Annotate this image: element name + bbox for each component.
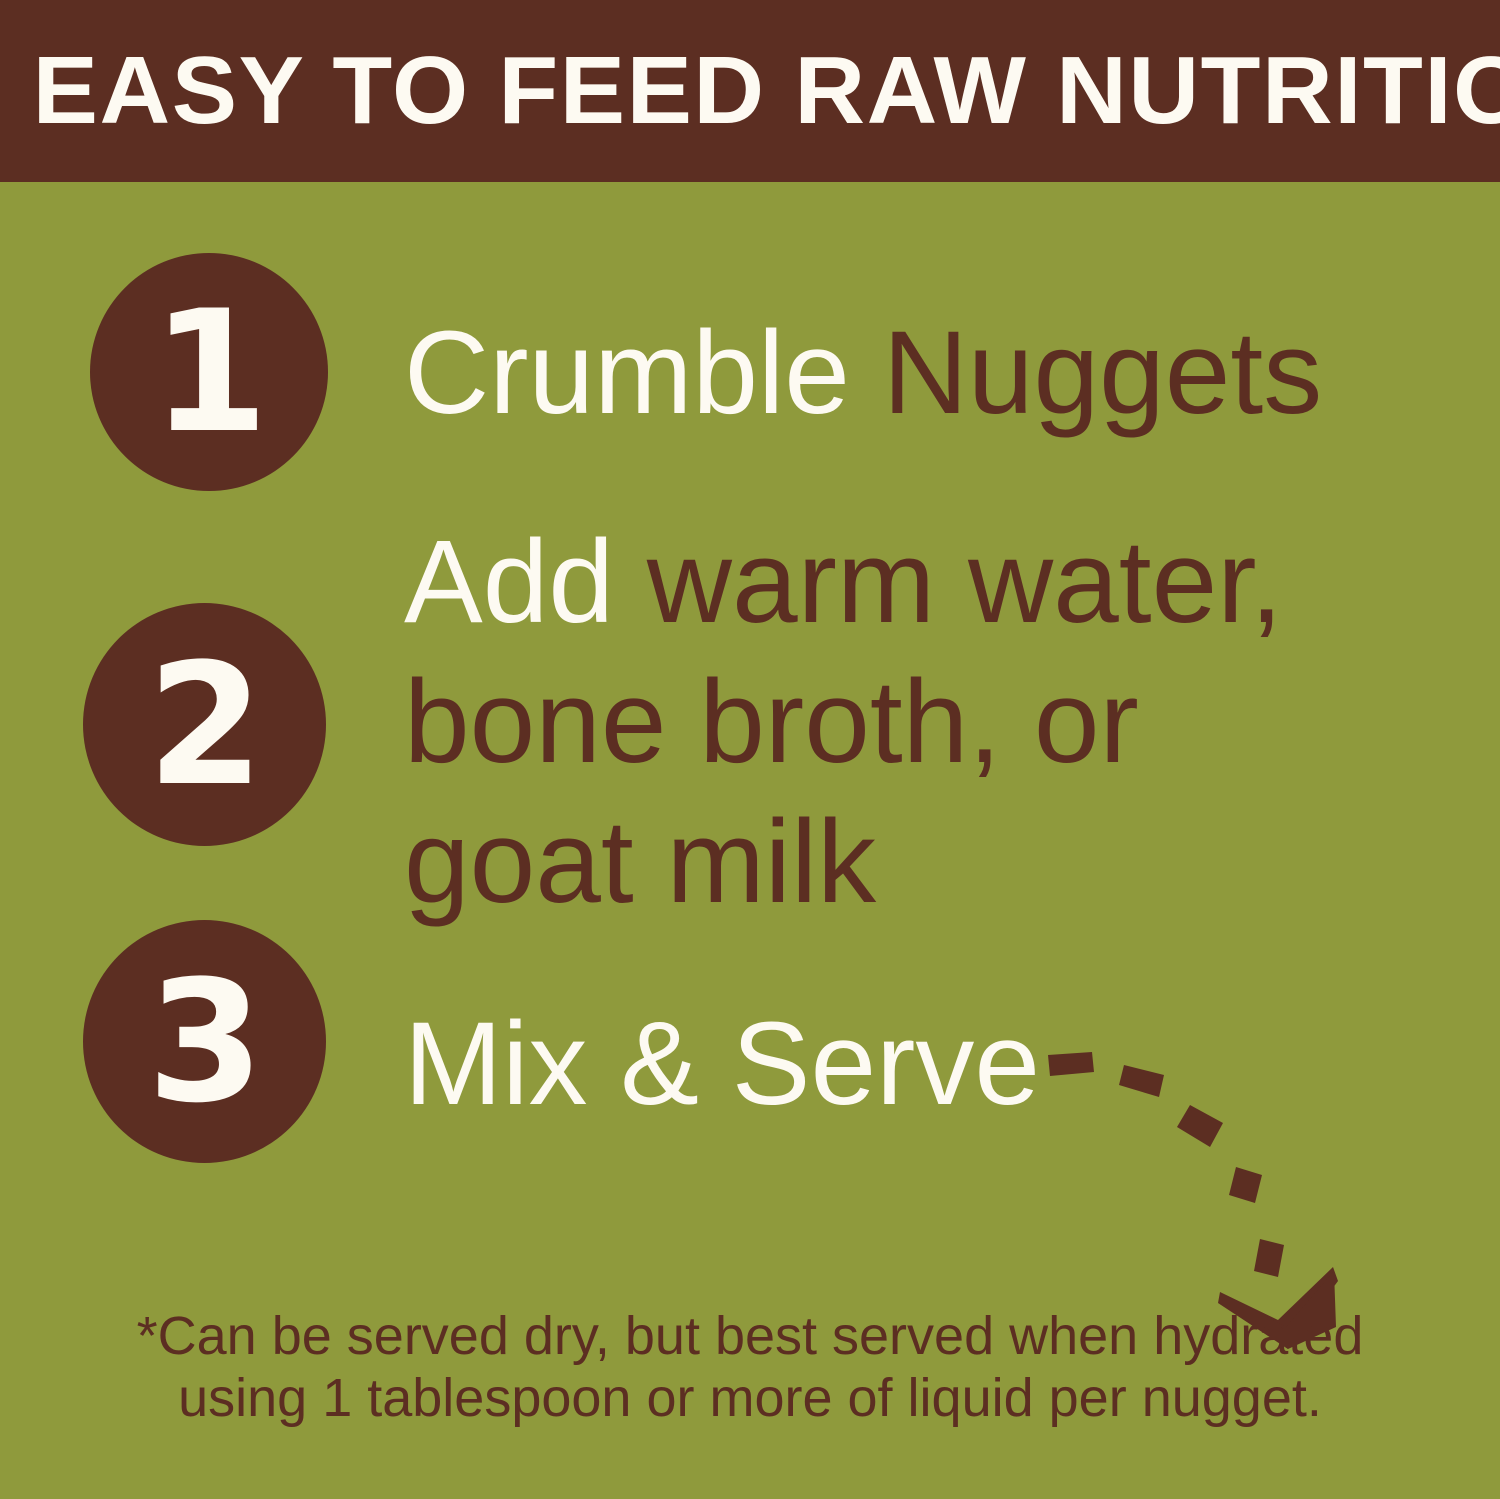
step-badge-1: 1	[90, 253, 328, 491]
step-text-1: Crumble Nuggets	[404, 303, 1322, 443]
step-badge-3: 3	[83, 920, 326, 1163]
step-2-line-3: goat milk	[404, 792, 1283, 932]
step-text-2: Add warm water, bone broth, or goat milk	[404, 512, 1283, 932]
step-text-3: Mix & Serve	[404, 994, 1040, 1134]
step-2-line-3-part-1: goat milk	[404, 796, 876, 928]
step-2-line-1: Add warm water,	[404, 512, 1283, 652]
step-1-line-1-part-2: Nuggets	[883, 307, 1323, 439]
footnote: *Can be served dry, but best served when…	[0, 1305, 1500, 1429]
footnote-line-2: using 1 tablespoon or more of liquid per…	[40, 1367, 1460, 1429]
step-2-line-2: bone broth, or	[404, 652, 1283, 792]
step-1-line-1-part-1: Crumble	[404, 307, 883, 439]
step-number-3: 3	[147, 958, 262, 1126]
step-2-line-2-part-1: bone broth, or	[404, 656, 1139, 788]
page-title: EASY TO FEED RAW NUTRITION	[0, 43, 1500, 139]
step-badge-2: 2	[83, 603, 326, 846]
header-banner: EASY TO FEED RAW NUTRITION	[0, 0, 1500, 182]
step-3-line-1-part-1: Mix & Serve	[404, 998, 1040, 1130]
step-2-line-1-part-1: Add	[404, 516, 647, 648]
infographic-page: EASY TO FEED RAW NUTRITION 1 Crumble Nug…	[0, 0, 1500, 1499]
steps-list: 1 Crumble Nuggets 2 Add warm water, bone…	[0, 182, 1500, 1182]
step-number-1: 1	[152, 288, 267, 456]
step-2-line-1-part-2: warm water,	[647, 516, 1283, 648]
footnote-line-1: *Can be served dry, but best served when…	[40, 1305, 1460, 1367]
step-number-2: 2	[147, 641, 262, 809]
